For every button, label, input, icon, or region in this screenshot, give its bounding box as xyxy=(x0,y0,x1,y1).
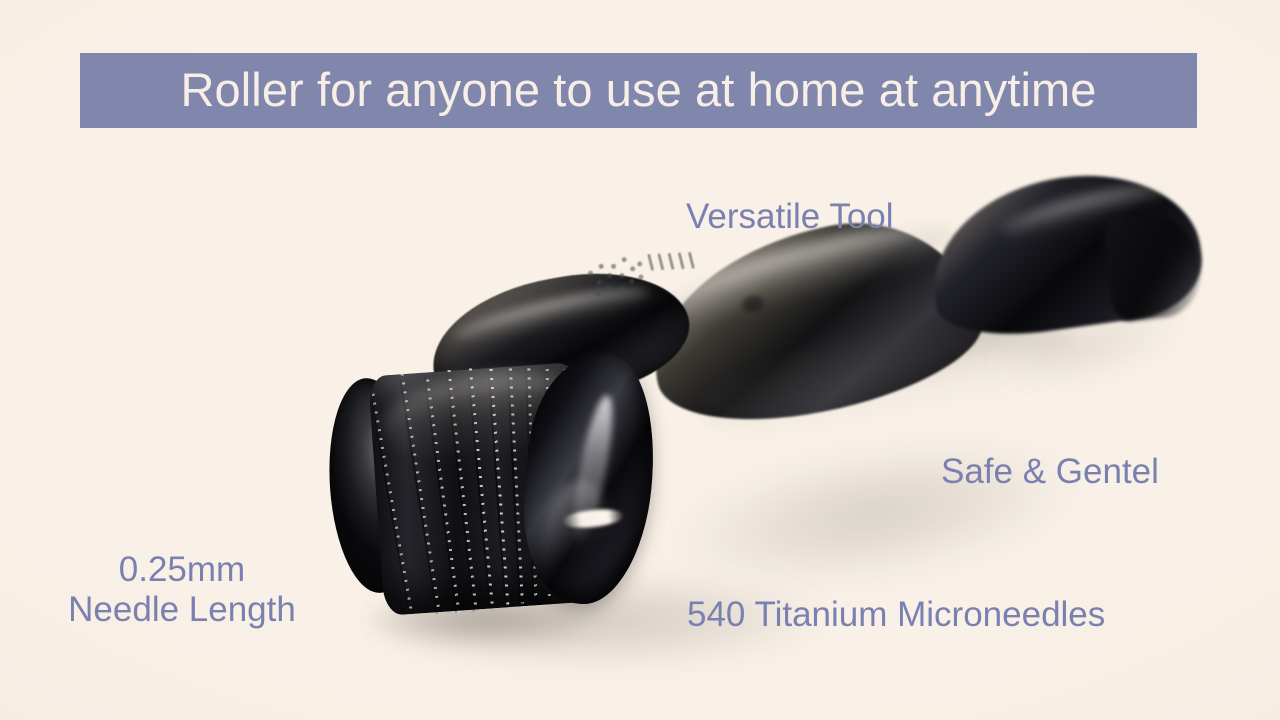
vent-dot xyxy=(611,263,617,269)
callout-needle-length: 0.25mm Needle Length xyxy=(47,550,317,630)
vent-dot xyxy=(606,285,612,291)
vent-dot xyxy=(587,270,593,276)
vent-line xyxy=(647,254,654,271)
headline-banner: Roller for anyone to use at home at anyt… xyxy=(80,53,1197,128)
vent-line xyxy=(668,253,675,270)
roller-drum-assembly xyxy=(330,360,660,630)
headline-text: Roller for anyone to use at home at anyt… xyxy=(180,66,1096,113)
vent-dot xyxy=(596,279,602,285)
vent-dot xyxy=(595,291,601,297)
vent-dot xyxy=(621,257,627,263)
callout-microneedle-count: 540 Titanium Microneedles xyxy=(687,595,1105,635)
callout-versatile-tool: Versatile Tool xyxy=(686,197,894,237)
vent-dot xyxy=(629,278,635,284)
callout-safe-and-gentle: Safe & Gentel xyxy=(941,452,1159,492)
handle-shadow xyxy=(631,390,1170,629)
vent-dot xyxy=(607,273,613,279)
needle-length-value: 0.25mm xyxy=(119,550,245,589)
vent-dot xyxy=(618,286,624,292)
needle-length-label: Needle Length xyxy=(47,590,317,630)
vent-line xyxy=(657,253,664,270)
vent-dot xyxy=(598,263,604,269)
vent-dot xyxy=(630,266,636,272)
vent-line xyxy=(678,252,685,269)
vent-line xyxy=(688,252,695,269)
vent-dot xyxy=(638,274,644,280)
vent-dot xyxy=(637,261,643,267)
vent-dot xyxy=(619,273,625,279)
